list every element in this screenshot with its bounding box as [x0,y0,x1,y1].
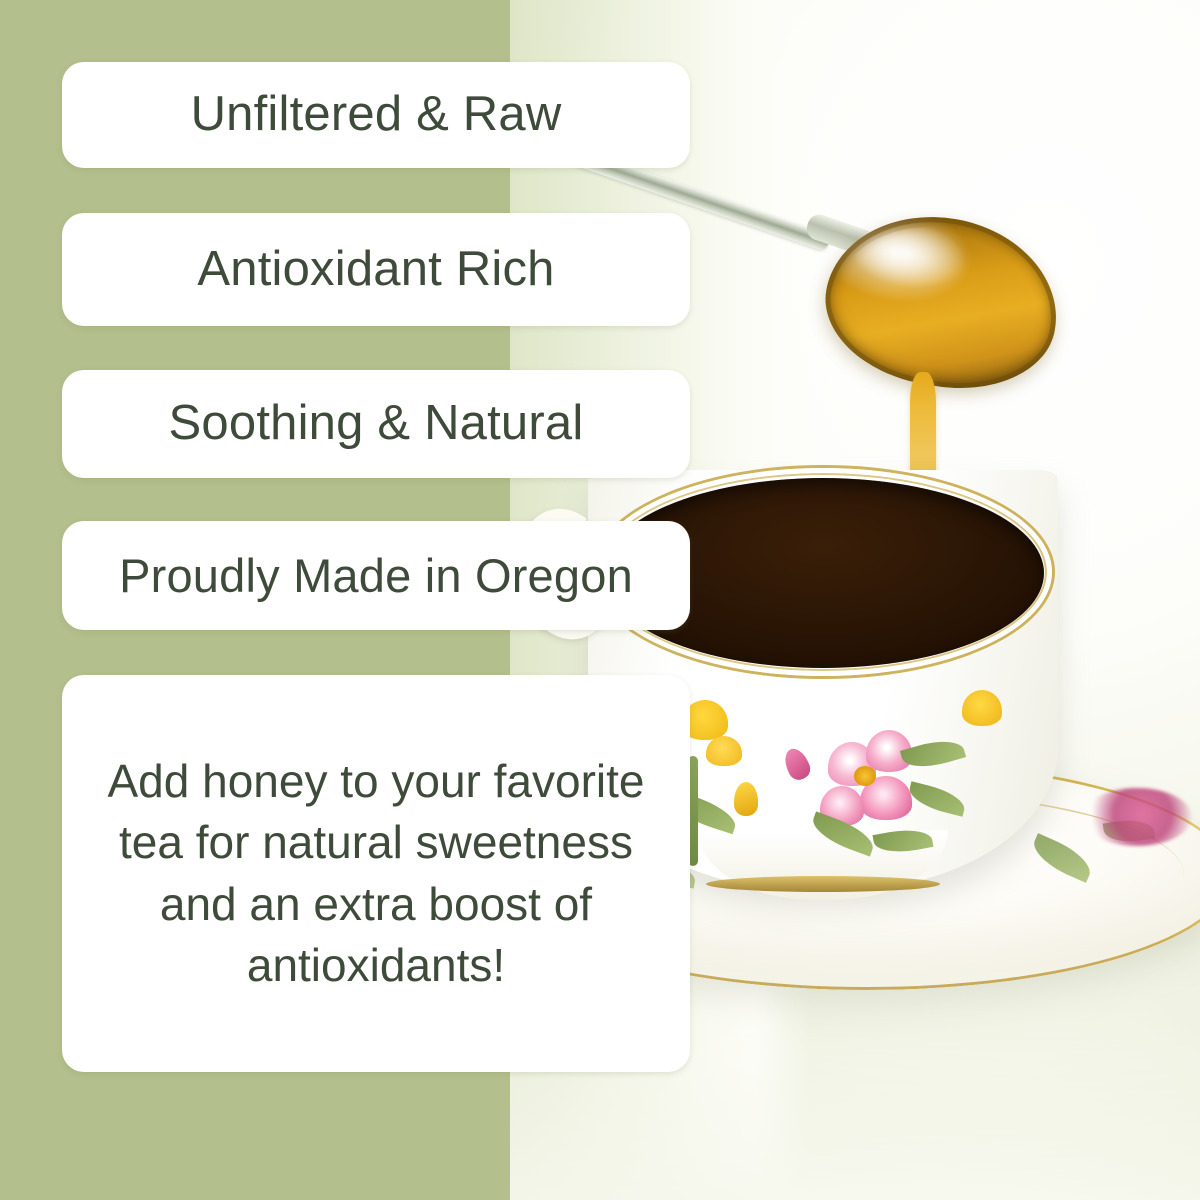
benefit-card-made-in-oregon[interactable]: Proudly Made in Oregon [62,521,690,630]
usage-description-card[interactable]: Add honey to your favorite tea for natur… [62,675,690,1072]
usage-description-text: Add honey to your favorite tea for natur… [62,751,690,996]
benefits-panel: Unfiltered & Raw Antioxidant Rich Soothi… [0,0,700,1200]
benefit-card-soothing-natural[interactable]: Soothing & Natural [62,370,690,478]
benefit-card-unfiltered-raw[interactable]: Unfiltered & Raw [62,62,690,168]
benefit-label: Soothing & Natural [169,398,584,449]
benefit-label: Proudly Made in Oregon [119,551,633,600]
benefit-card-antioxidant-rich[interactable]: Antioxidant Rich [62,213,690,326]
benefit-label: Antioxidant Rich [197,244,554,295]
benefit-label: Unfiltered & Raw [191,89,562,140]
